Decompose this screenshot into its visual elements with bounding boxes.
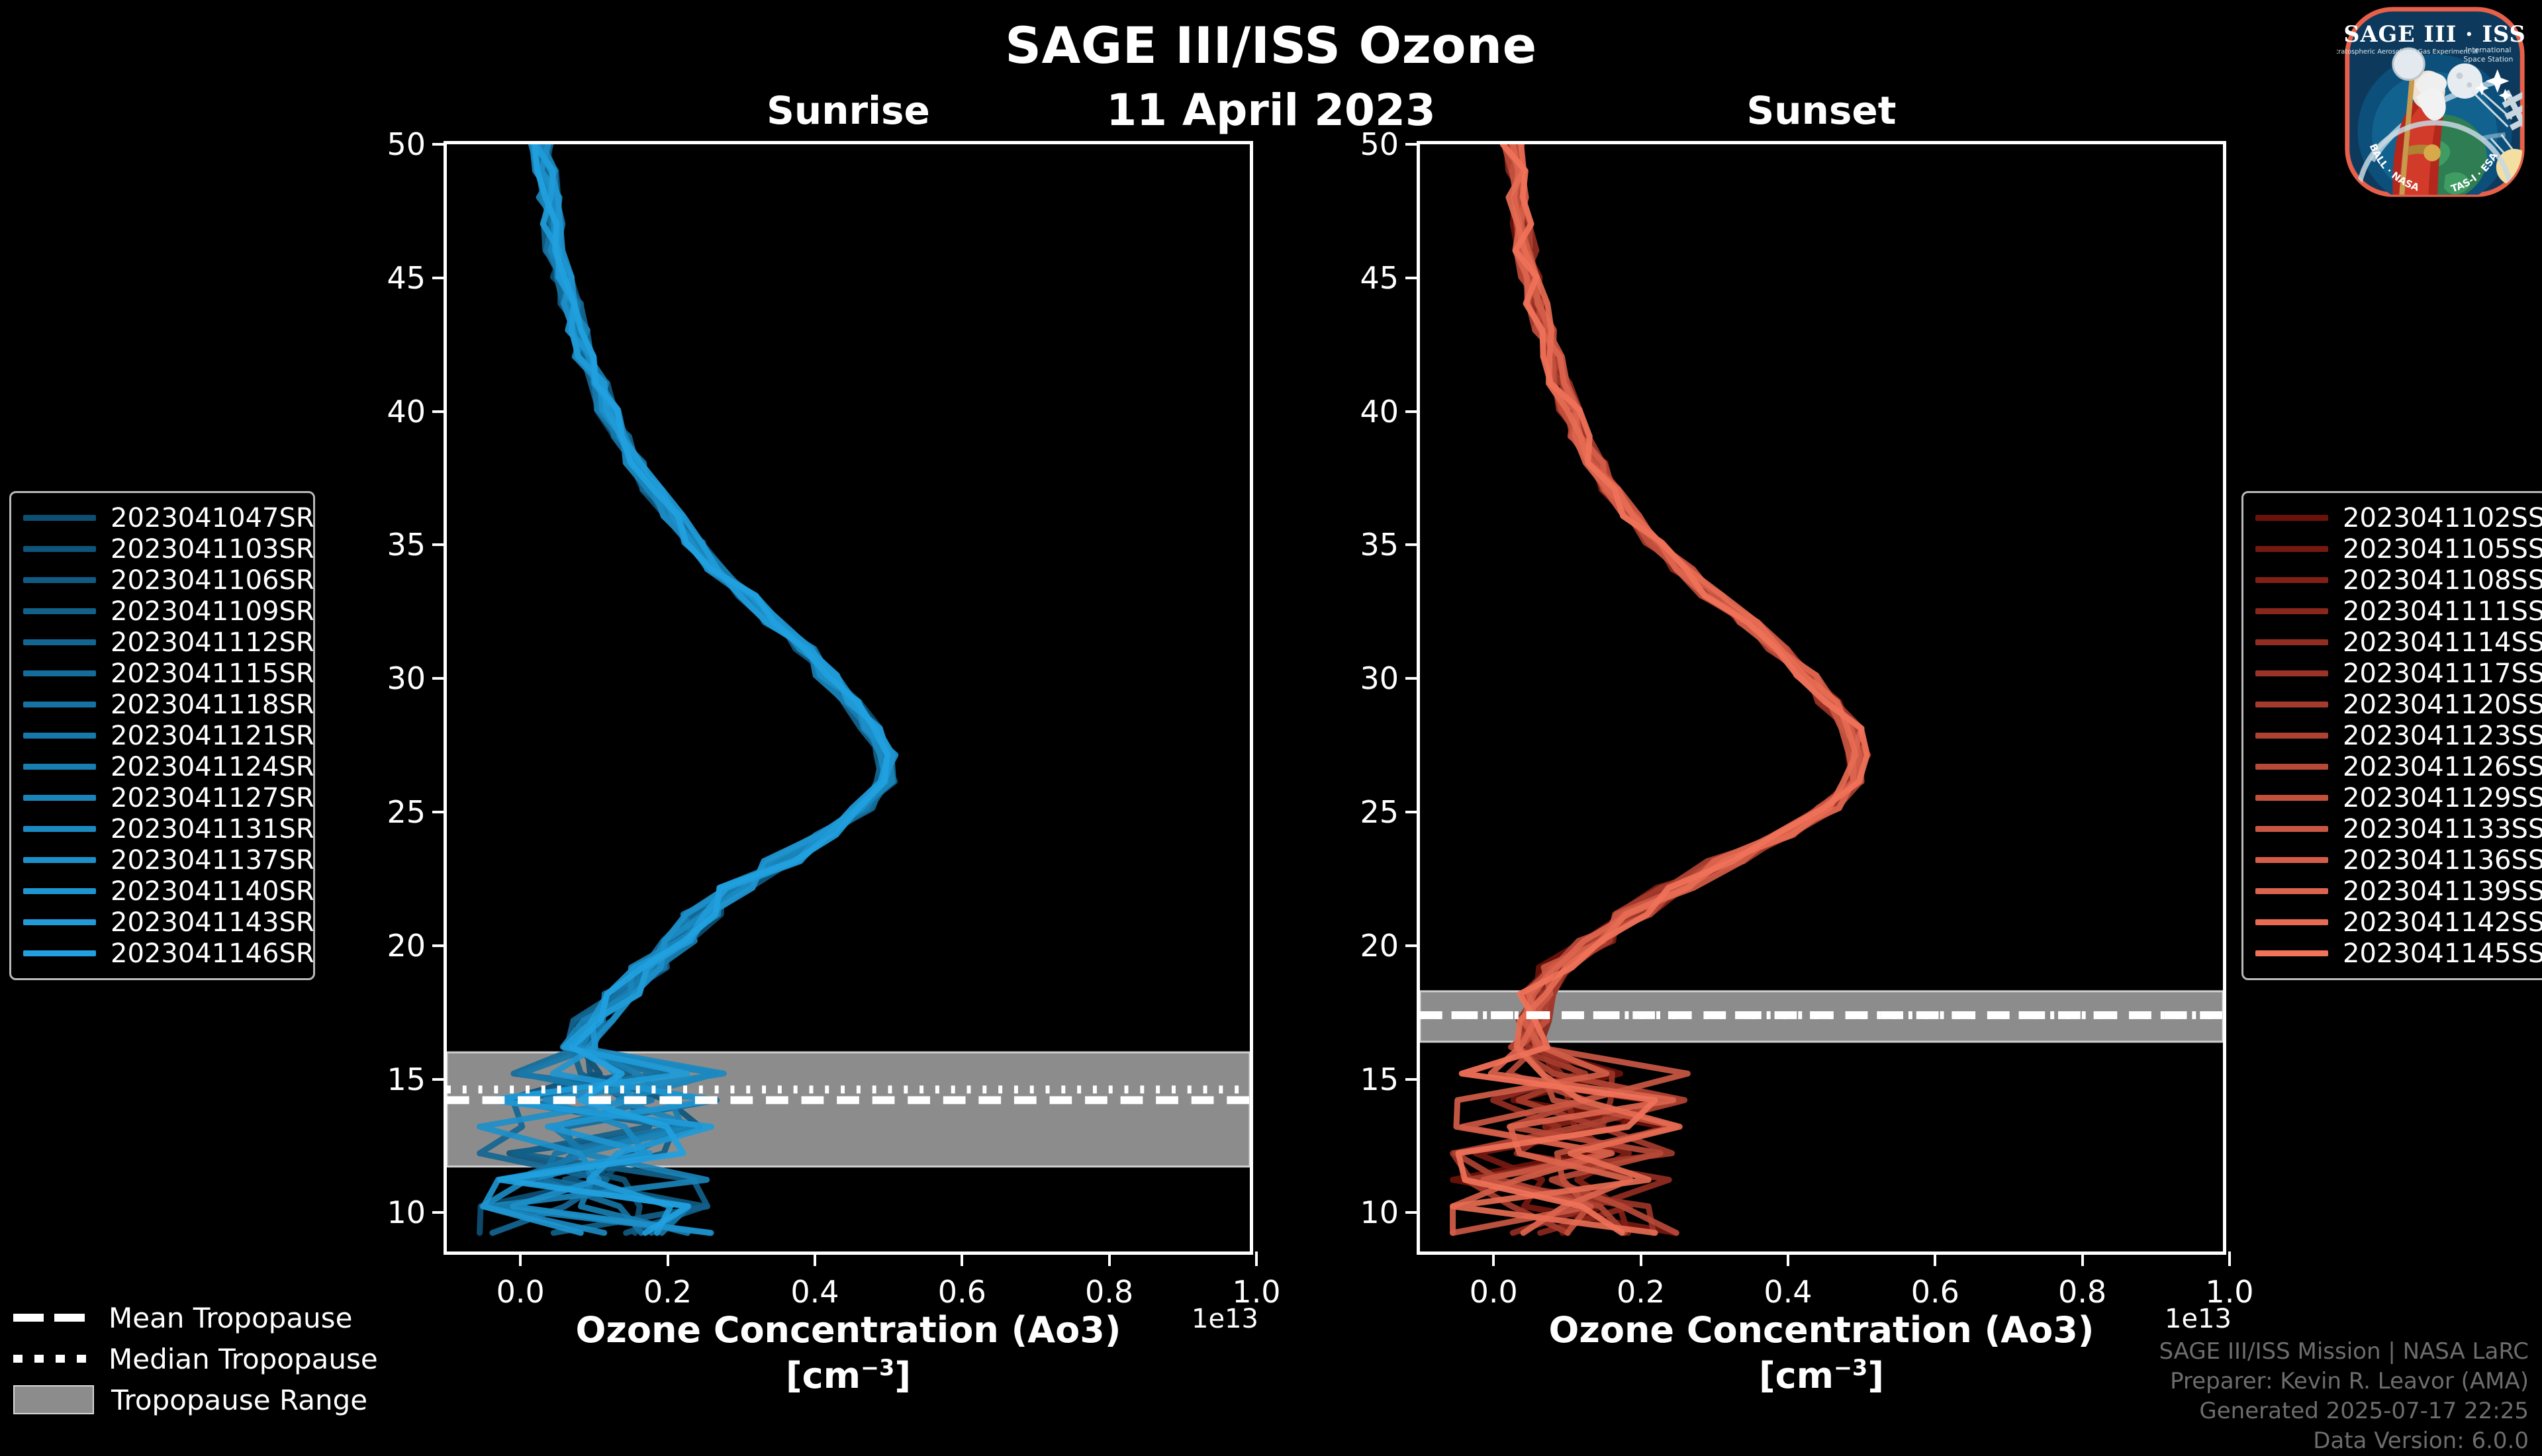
- legend-label: 2023041112SR: [111, 627, 314, 658]
- y-axis-tick: [432, 677, 447, 680]
- dashed-line-icon: [13, 1314, 91, 1322]
- ozone-profile-line: [1517, 144, 1868, 1233]
- y-axis-label: 40: [1360, 394, 1399, 430]
- x-axis-label: 0.2: [643, 1274, 692, 1310]
- sage-iii-iss-mission-patch-icon: SAGE III · ISS Stratospheric Aerosol and…: [2337, 4, 2533, 200]
- logo-subtitle-left: Stratospheric Aerosol and Gas Experiment…: [2337, 48, 2478, 56]
- series-color-swatch: [23, 577, 96, 583]
- legend-item[interactable]: 2023041124SR: [23, 751, 301, 782]
- ozone-profile-line: [500, 144, 887, 1233]
- legend-label: 2023041143SR: [111, 907, 314, 938]
- plot-clip: [1420, 144, 2223, 1251]
- legend-item[interactable]: 2023041047SR: [23, 502, 301, 533]
- series-color-swatch: [2255, 577, 2328, 583]
- ozone-profile-line: [514, 144, 890, 1233]
- x-axis-label: 0.6: [1911, 1274, 1959, 1310]
- legend-item-tropopause-range: Tropopause Range: [13, 1379, 378, 1420]
- legend-label: 2023041115SR: [111, 659, 314, 689]
- legend-sunrise: 2023041047SR2023041103SR2023041106SR2023…: [9, 491, 315, 980]
- legend-item[interactable]: 2023041137SR: [23, 844, 301, 876]
- x-axis-tick: [1934, 1251, 1936, 1266]
- legend-item[interactable]: 2023041109SR: [23, 596, 301, 627]
- series-color-swatch: [2255, 608, 2328, 614]
- series-color-swatch: [23, 857, 96, 863]
- y-axis-label: 35: [1360, 527, 1399, 563]
- legend-item[interactable]: 2023041108SS: [2255, 565, 2533, 596]
- y-axis-label: 10: [1360, 1195, 1399, 1230]
- ozone-profile-line: [480, 144, 896, 1233]
- y-axis-label: 35: [387, 527, 426, 563]
- x-axis-label: 0.8: [1085, 1274, 1133, 1310]
- series-color-swatch: [2255, 888, 2328, 894]
- legend-item[interactable]: 2023041121SR: [23, 720, 301, 751]
- y-axis-tick: [1405, 543, 1420, 546]
- ozone-profile-line: [1467, 144, 1859, 1233]
- legend-label: 2023041133SS: [2343, 814, 2542, 844]
- tropopause-range-band: [1420, 991, 2223, 1042]
- legend-label: 2023041121SR: [111, 721, 314, 751]
- legend-label-mean: Mean Tropopause: [109, 1302, 352, 1334]
- legend-item[interactable]: 2023041112SR: [23, 627, 301, 658]
- legend-label: 2023041142SS: [2343, 907, 2542, 938]
- legend-item[interactable]: 2023041115SR: [23, 658, 301, 689]
- legend-item-median-tropopause: Median Tropopause: [13, 1338, 378, 1379]
- ozone-profile-line: [1453, 144, 1862, 1233]
- x-axis-label: 0.0: [496, 1274, 545, 1310]
- x-axis-tick: [1108, 1251, 1111, 1266]
- ozone-profile-line: [483, 144, 893, 1233]
- series-color-swatch: [2255, 919, 2328, 925]
- x-axis-tick: [667, 1251, 669, 1266]
- ozone-profile-line: [1504, 144, 1861, 1233]
- y-axis-label: 15: [387, 1062, 426, 1097]
- ozone-profile-line: [480, 144, 882, 1233]
- credit-line-mission: SAGE III/ISS Mission | NASA LaRC: [2159, 1337, 2529, 1367]
- legend-label: 2023041139SS: [2343, 876, 2542, 907]
- tropopause-range-band: [447, 1052, 1250, 1167]
- legend-item[interactable]: 2023041140SR: [23, 876, 301, 907]
- y-axis-label: 10: [387, 1195, 426, 1230]
- series-color-swatch: [23, 702, 96, 707]
- series-color-swatch: [23, 764, 96, 770]
- legend-item[interactable]: 2023041117SS: [2255, 658, 2533, 689]
- logo-subtitle-right-2: Space Station: [2463, 55, 2513, 64]
- ozone-profile-line: [1493, 144, 1861, 1233]
- series-color-swatch: [2255, 702, 2328, 707]
- ozone-profile-line: [1453, 144, 1859, 1233]
- y-axis-label: 45: [1360, 260, 1399, 296]
- y-axis-tick: [1405, 944, 1420, 947]
- plot-area-sunrise: 1015202530354045500.00.20.40.60.81.0: [444, 141, 1253, 1255]
- y-axis-tick: [432, 944, 447, 947]
- ozone-profile-line: [1491, 144, 1861, 1233]
- x-axis-tick: [2228, 1251, 2231, 1266]
- x-axis-tick: [814, 1251, 816, 1266]
- legend-label: 2023041145SS: [2343, 938, 2542, 969]
- series-color-swatch: [2255, 515, 2328, 521]
- plot-area-sunset: 1015202530354045500.00.20.40.60.81.0: [1417, 141, 2226, 1255]
- legend-item[interactable]: 2023041103SR: [23, 533, 301, 565]
- legend-label: 2023041126SS: [2343, 752, 2542, 782]
- legend-item[interactable]: 2023041102SS: [2255, 502, 2533, 533]
- legend-item[interactable]: 2023041143SR: [23, 907, 301, 938]
- legend-tropopause: Mean Tropopause Median Tropopause Tropop…: [13, 1297, 378, 1420]
- y-axis-label: 15: [1360, 1062, 1399, 1097]
- credit-line-generated: Generated 2025-07-17 22:25: [2159, 1396, 2529, 1426]
- legend-label: 2023041102SS: [2343, 503, 2542, 533]
- series-color-swatch: [23, 795, 96, 801]
- legend-item[interactable]: 2023041120SS: [2255, 689, 2533, 720]
- legend-label: 2023041103SR: [111, 534, 314, 565]
- legend-label: 2023041047SR: [111, 503, 314, 533]
- x-axis-exponent-sunset: 1e13: [2165, 1304, 2232, 1334]
- y-axis-label: 30: [1360, 660, 1399, 696]
- x-axis-tick: [1492, 1251, 1495, 1266]
- series-color-swatch: [23, 515, 96, 521]
- credit-block: SAGE III/ISS Mission | NASA LaRC Prepare…: [2159, 1337, 2529, 1456]
- y-axis-tick: [432, 543, 447, 546]
- series-color-swatch: [2255, 546, 2328, 552]
- y-axis-label: 45: [387, 260, 426, 296]
- series-color-swatch: [2255, 670, 2328, 676]
- ozone-profile-line: [1453, 144, 1856, 1233]
- y-axis-tick: [1405, 143, 1420, 146]
- x-axis-title-line2: [cm−3]: [444, 1353, 1253, 1398]
- y-axis-label: 20: [1360, 928, 1399, 964]
- x-axis-title-sunrise: Ozone Concentration (Ao3) [cm−3]: [444, 1307, 1253, 1398]
- plot-clip: [447, 144, 1250, 1251]
- logo-subtitle-right-1: International: [2465, 46, 2511, 54]
- ozone-profile-line: [509, 144, 893, 1233]
- legend-label: 2023041146SR: [111, 938, 314, 969]
- legend-item[interactable]: 2023041114SS: [2255, 627, 2533, 658]
- x-axis-tick: [961, 1251, 963, 1266]
- series-color-swatch: [23, 826, 96, 832]
- x-axis-title-line1: Ozone Concentration (Ao3): [444, 1307, 1253, 1353]
- legend-item-mean-tropopause: Mean Tropopause: [13, 1297, 378, 1338]
- y-axis-label: 30: [387, 660, 426, 696]
- legend-label: 2023041137SR: [111, 845, 314, 876]
- x-axis-label: 0.0: [1470, 1274, 1518, 1310]
- legend-item[interactable]: 2023041129SS: [2255, 782, 2533, 813]
- ozone-profile-line: [1513, 144, 1866, 1233]
- y-axis-tick: [1405, 410, 1420, 413]
- page-title: SAGE III/ISS Ozone: [0, 16, 2542, 75]
- x-axis-label: 0.4: [790, 1274, 839, 1310]
- legend-label: 2023041123SS: [2343, 721, 2542, 751]
- series-color-swatch: [2255, 733, 2328, 739]
- ozone-profile-line: [483, 144, 886, 1233]
- legend-label: 2023041124SR: [111, 752, 314, 782]
- legend-label: 2023041114SS: [2343, 627, 2542, 658]
- legend-label: 2023041106SR: [111, 565, 314, 596]
- legend-label: 2023041111SS: [2343, 596, 2542, 627]
- x-axis-tick: [1787, 1251, 1789, 1266]
- legend-item[interactable]: 2023041127SR: [23, 782, 301, 813]
- y-axis-tick: [1405, 1078, 1420, 1081]
- legend-item[interactable]: 2023041139SS: [2255, 876, 2533, 907]
- series-color-swatch: [2255, 857, 2328, 863]
- ozone-profile-line: [531, 144, 888, 1233]
- y-axis-label: 25: [1360, 794, 1399, 830]
- ozone-profile-line: [1458, 144, 1867, 1233]
- legend-item[interactable]: 2023041118SR: [23, 689, 301, 720]
- y-axis-label: 50: [1360, 126, 1399, 162]
- x-axis-title-line2: [cm−3]: [1417, 1353, 2226, 1398]
- ozone-profile-line: [489, 144, 892, 1233]
- panel-heading-sunrise: Sunrise: [444, 88, 1253, 133]
- credit-line-data-version: Data Version: 6.0.0: [2159, 1426, 2529, 1456]
- legend-label: 2023041131SR: [111, 814, 314, 844]
- y-axis-label: 50: [387, 126, 426, 162]
- x-axis-title-sunset: Ozone Concentration (Ao3) [cm−3]: [1417, 1307, 2226, 1398]
- series-color-swatch: [2255, 826, 2328, 832]
- legend-item[interactable]: 2023041142SS: [2255, 907, 2533, 938]
- legend-label: 2023041117SS: [2343, 659, 2542, 689]
- legend-item[interactable]: 2023041131SR: [23, 813, 301, 844]
- y-axis-tick: [432, 1078, 447, 1081]
- y-axis-tick: [432, 811, 447, 813]
- series-color-swatch: [23, 919, 96, 925]
- y-axis-tick: [432, 143, 447, 146]
- y-axis-tick: [1405, 1211, 1420, 1214]
- series-color-swatch: [23, 546, 96, 552]
- legend-item[interactable]: 2023041111SS: [2255, 596, 2533, 627]
- y-axis-label: 25: [387, 794, 426, 830]
- legend-item[interactable]: 2023041126SS: [2255, 751, 2533, 782]
- legend-item[interactable]: 2023041136SS: [2255, 844, 2533, 876]
- x-axis-exponent-sunrise: 1e13: [1192, 1304, 1258, 1334]
- y-axis-tick: [432, 277, 447, 279]
- legend-item[interactable]: 2023041106SR: [23, 565, 301, 596]
- y-axis-tick: [1405, 277, 1420, 279]
- legend-label: 2023041129SS: [2343, 783, 2542, 813]
- y-axis-label: 40: [387, 394, 426, 430]
- series-color-swatch: [2255, 795, 2328, 801]
- y-axis-tick: [432, 410, 447, 413]
- series-color-swatch: [23, 639, 96, 645]
- y-axis-tick: [1405, 677, 1420, 680]
- y-axis-tick: [432, 1211, 447, 1214]
- x-axis-tick: [2081, 1251, 2084, 1266]
- series-color-swatch: [2255, 764, 2328, 770]
- ozone-profile-line: [500, 144, 893, 1233]
- series-color-swatch: [23, 733, 96, 739]
- series-color-swatch: [23, 950, 96, 956]
- legend-item[interactable]: 2023041145SS: [2255, 938, 2533, 969]
- y-axis-label: 20: [387, 928, 426, 964]
- profile-curves: [1420, 144, 2223, 1251]
- legend-item[interactable]: 2023041105SS: [2255, 533, 2533, 565]
- dotted-line-icon: [13, 1355, 91, 1363]
- legend-label-range: Tropopause Range: [111, 1384, 367, 1416]
- series-color-swatch: [23, 888, 96, 894]
- ozone-profile-line: [514, 144, 892, 1233]
- x-axis-tick: [1255, 1251, 1258, 1266]
- ozone-profile-line: [489, 144, 888, 1233]
- ozone-profile-line: [1464, 144, 1857, 1233]
- legend-item[interactable]: 2023041123SS: [2255, 720, 2533, 751]
- legend-label: 2023041140SR: [111, 876, 314, 907]
- ozone-profile-line: [515, 144, 882, 1233]
- x-axis-title-line1: Ozone Concentration (Ao3): [1417, 1307, 2226, 1353]
- ozone-profile-line: [1453, 144, 1854, 1233]
- legend-label-median: Median Tropopause: [109, 1343, 378, 1375]
- legend-label: 2023041109SR: [111, 596, 314, 627]
- x-axis-label: 0.6: [938, 1274, 986, 1310]
- legend-label: 2023041120SS: [2343, 690, 2542, 720]
- legend-label: 2023041105SS: [2343, 534, 2542, 565]
- x-axis-tick: [519, 1251, 522, 1266]
- legend-label: 2023041118SR: [111, 690, 314, 720]
- legend-label: 2023041108SS: [2343, 565, 2542, 596]
- series-color-swatch: [23, 670, 96, 676]
- x-axis-label: 0.4: [1764, 1274, 1812, 1310]
- band-swatch-icon: [13, 1385, 94, 1414]
- ozone-profile-line: [520, 144, 893, 1233]
- logo-title: SAGE III · ISS: [2343, 21, 2525, 47]
- ozone-profile-line: [1466, 144, 1867, 1233]
- panel-heading-sunset: Sunset: [1417, 88, 2226, 133]
- ozone-profile-line: [1455, 144, 1861, 1233]
- profile-curves: [447, 144, 1250, 1251]
- x-axis-label: 0.8: [2058, 1274, 2106, 1310]
- ozone-profile-line: [1453, 144, 1852, 1233]
- series-color-swatch: [23, 608, 96, 614]
- legend-item[interactable]: 2023041146SR: [23, 938, 301, 969]
- credit-line-preparer: Preparer: Kevin R. Leavor (AMA): [2159, 1367, 2529, 1396]
- series-color-swatch: [2255, 950, 2328, 956]
- x-axis-label: 0.2: [1617, 1274, 1665, 1310]
- legend-label: 2023041136SS: [2343, 845, 2542, 876]
- y-axis-tick: [1405, 811, 1420, 813]
- x-axis-tick: [1640, 1251, 1642, 1266]
- legend-sunset: 2023041102SS2023041105SS2023041108SS2023…: [2241, 491, 2542, 980]
- legend-item[interactable]: 2023041133SS: [2255, 813, 2533, 844]
- legend-label: 2023041127SR: [111, 783, 314, 813]
- ozone-profile-line: [480, 144, 895, 1233]
- series-color-swatch: [2255, 639, 2328, 645]
